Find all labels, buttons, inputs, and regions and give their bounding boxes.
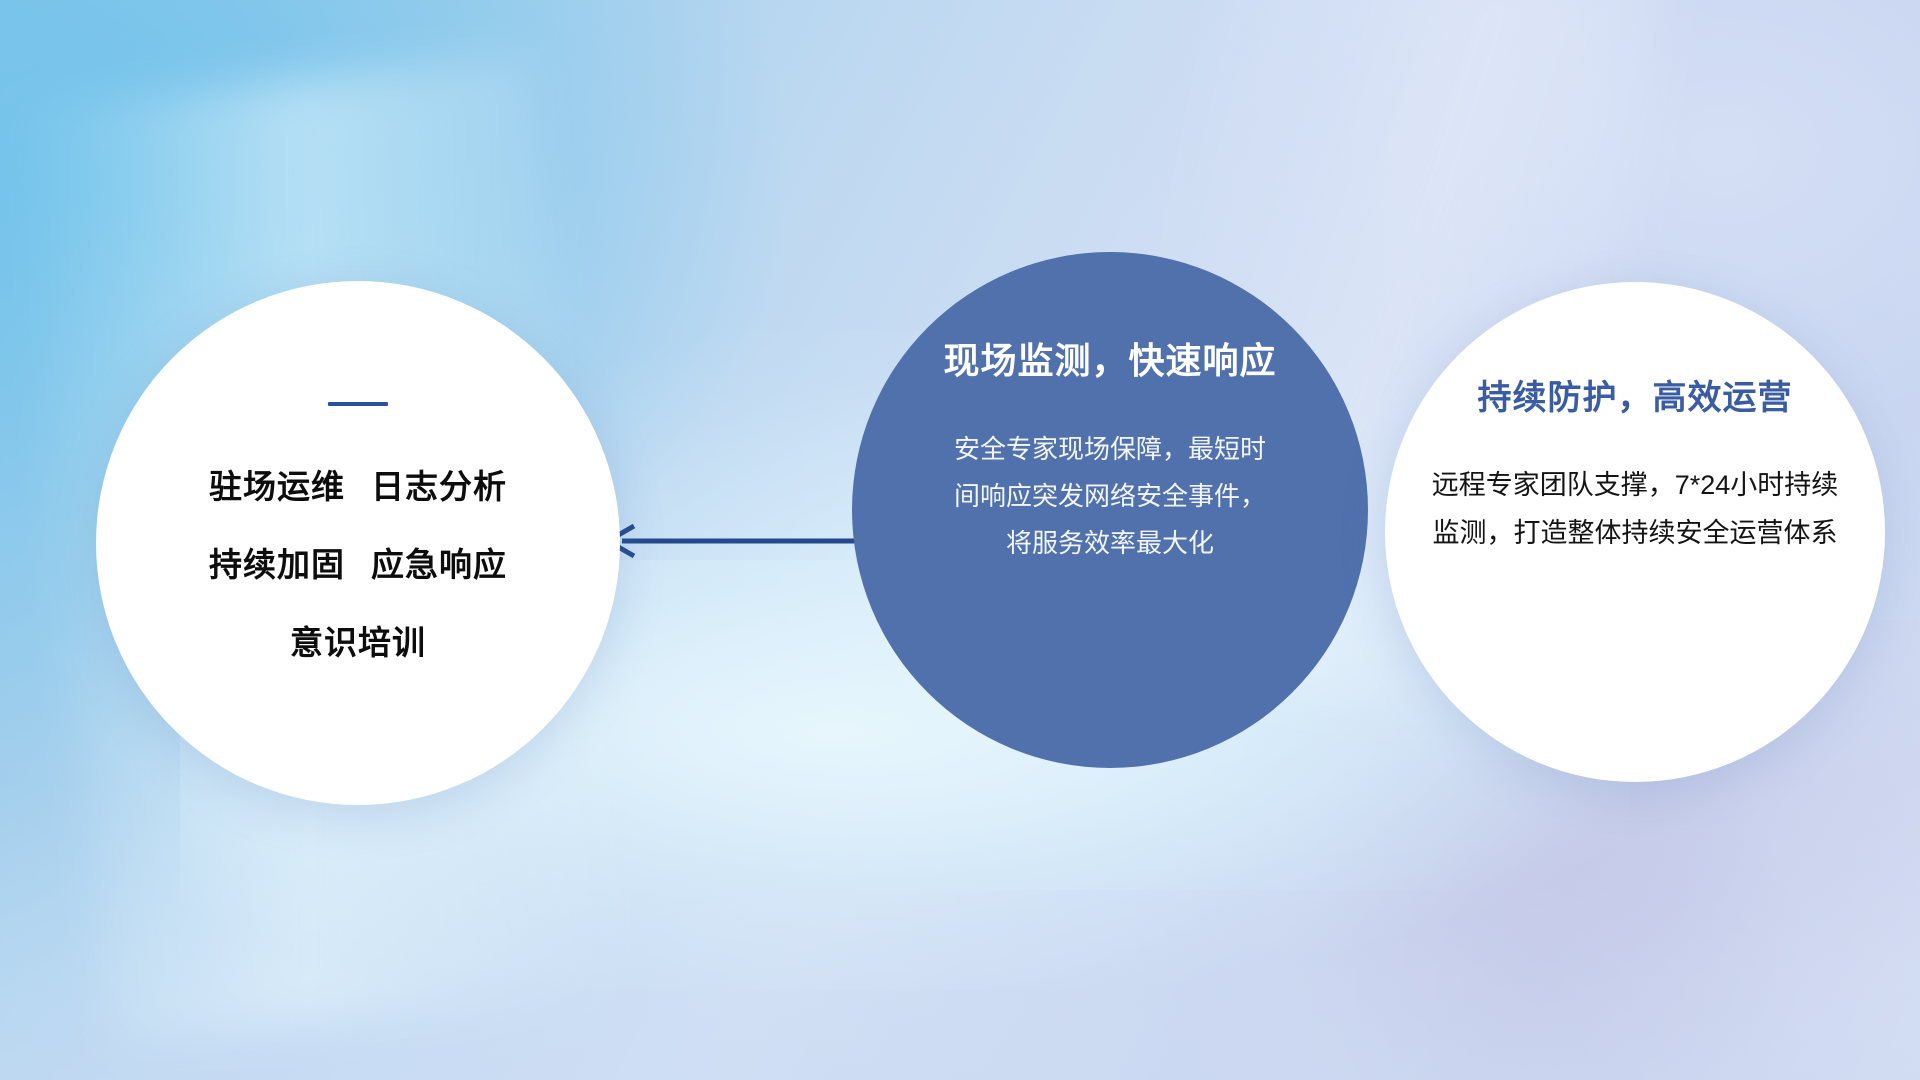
on-site-monitoring-body: 安全专家现场保障，最短时间响应突发网络安全事件，将服务效率最大化 xyxy=(952,426,1268,567)
capability-list: 驻场运维日志分析 持续加固应急响应 意识培训 xyxy=(209,460,507,664)
continuous-protection-circle[interactable]: 持续防护，高效运营 远程专家团队支撑，7*24小时持续监测，打造整体持续安全运营… xyxy=(1385,282,1885,782)
capability-label: 意识培训 xyxy=(290,624,426,661)
title-divider xyxy=(328,402,388,406)
on-site-monitoring-title: 现场监测，快速响应 xyxy=(943,332,1276,384)
on-site-monitoring-circle[interactable]: 现场监测，快速响应 安全专家现场保障，最短时间响应突发网络安全事件，将服务效率最… xyxy=(852,252,1368,768)
left-pointing-arrow-icon xyxy=(600,515,880,567)
capability-row-3: 意识培训 xyxy=(290,616,426,664)
flow-arrow xyxy=(600,515,880,567)
capability-label: 持续加固 xyxy=(209,546,345,583)
capability-row-2: 持续加固应急响应 xyxy=(209,538,507,586)
continuous-protection-body: 远程专家团队支撑，7*24小时持续监测，打造整体持续安全运营体系 xyxy=(1425,461,1845,557)
capability-label: 应急响应 xyxy=(371,546,507,583)
slide-canvas: 驻场运维日志分析 持续加固应急响应 意识培训 现场监测，快速响应 安全专家现场保… xyxy=(0,0,1920,1080)
capability-label: 日志分析 xyxy=(371,468,507,505)
capability-row-1: 驻场运维日志分析 xyxy=(209,460,507,508)
continuous-protection-title: 持续防护，高效运营 xyxy=(1478,370,1793,419)
capability-label: 驻场运维 xyxy=(209,468,345,505)
capabilities-circle[interactable]: 驻场运维日志分析 持续加固应急响应 意识培训 xyxy=(96,281,620,805)
